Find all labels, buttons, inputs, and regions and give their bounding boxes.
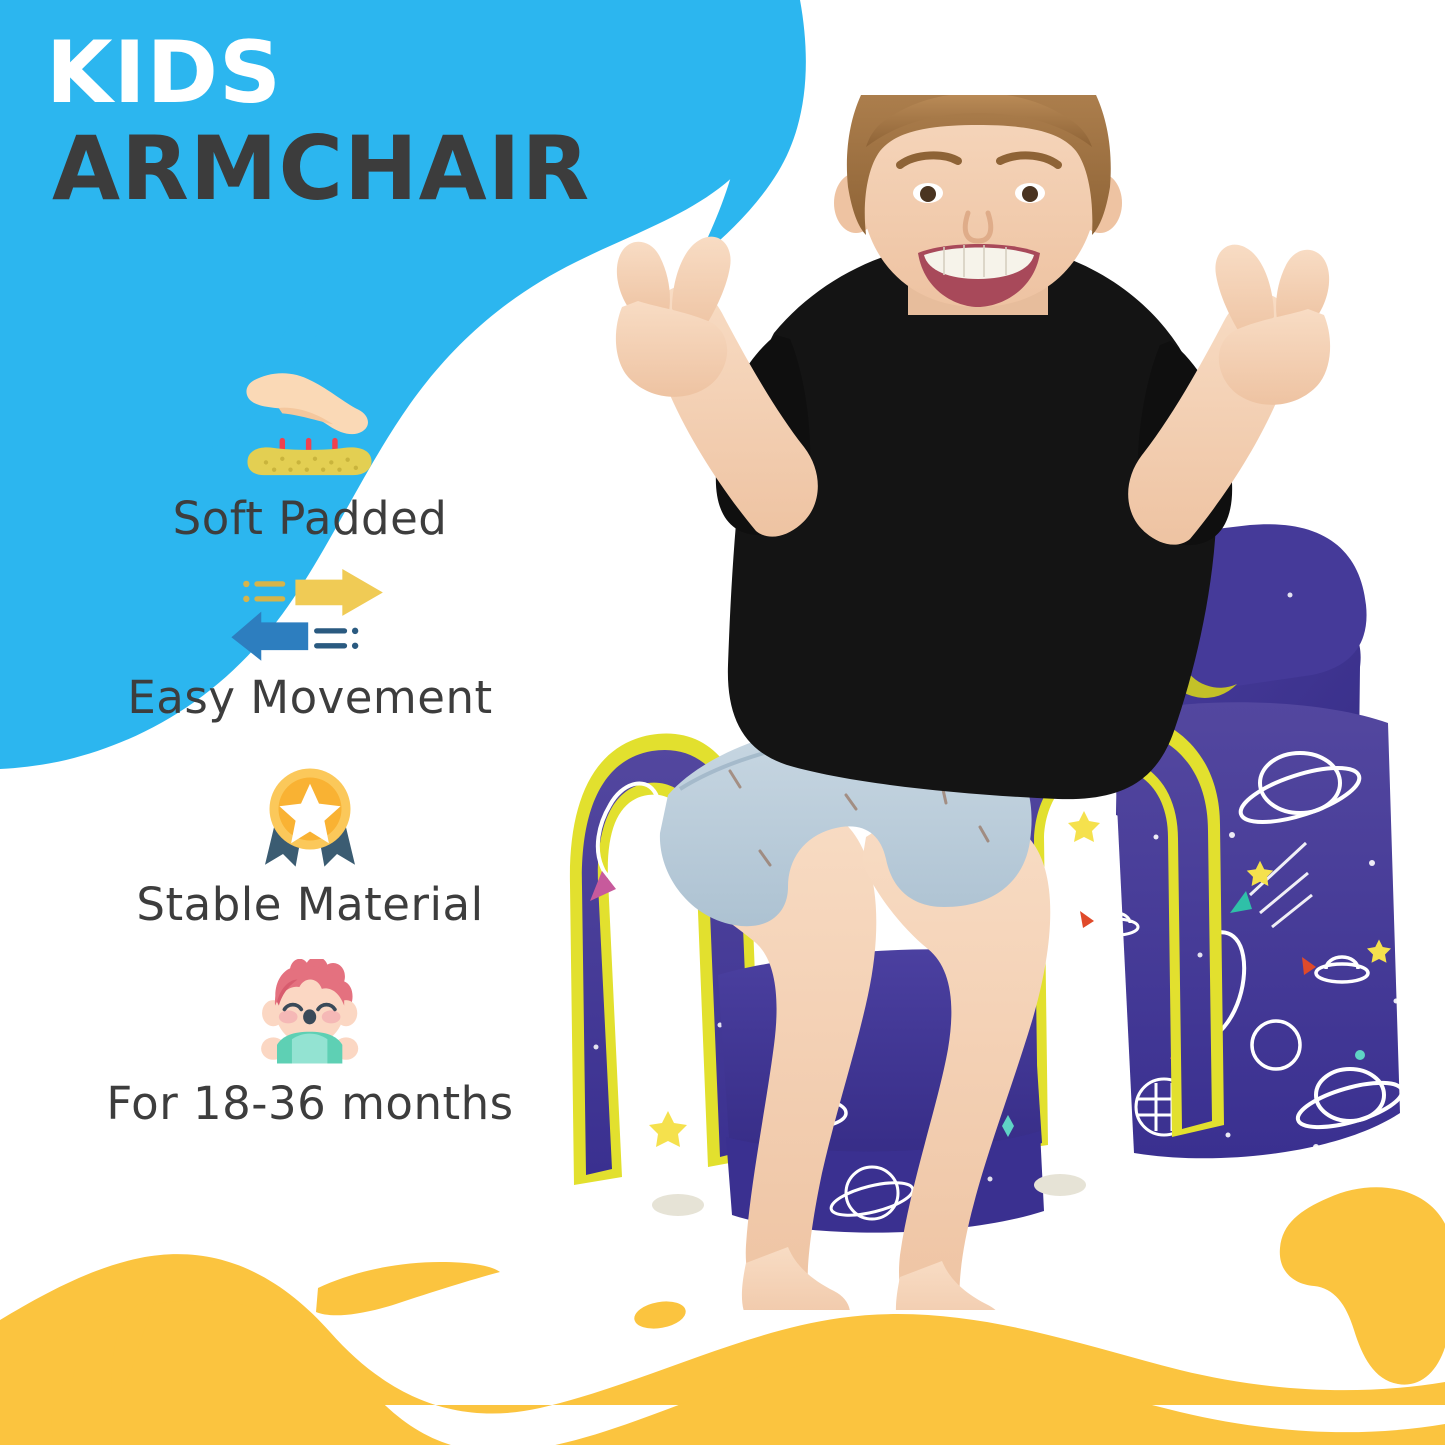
baby-face-icon — [249, 959, 370, 1071]
feature-item-stable-material: Stable Material — [0, 764, 620, 931]
footer-yellow-sliver-2-icon — [111, 1286, 160, 1404]
feature-label-stable-material: Stable Material — [0, 878, 620, 931]
infographic-canvas: KIDS ARMCHAIR — [0, 0, 1445, 1445]
feature-label-easy-movement: Easy Movement — [0, 671, 620, 724]
feature-item-age-range: For 18-36 months — [0, 959, 620, 1130]
feature-list: Soft Padded — [0, 368, 620, 1146]
award-medal-star-icon — [256, 764, 364, 872]
hand-pressing-sponge-icon — [246, 368, 373, 486]
footer-yellow-mass — [0, 1300, 1445, 1445]
footer-yellow-sliver-3-icon — [51, 1366, 76, 1445]
feature-label-soft-padded: Soft Padded — [0, 492, 620, 545]
product-photo — [560, 95, 1445, 1310]
two-way-arrows-icon — [225, 569, 396, 665]
feature-item-easy-movement: Easy Movement — [0, 569, 620, 724]
footer-yellow-sliver-1-icon — [316, 1262, 500, 1315]
feature-label-age-range: For 18-36 months — [0, 1077, 620, 1130]
feature-item-soft-padded: Soft Padded — [0, 368, 620, 545]
